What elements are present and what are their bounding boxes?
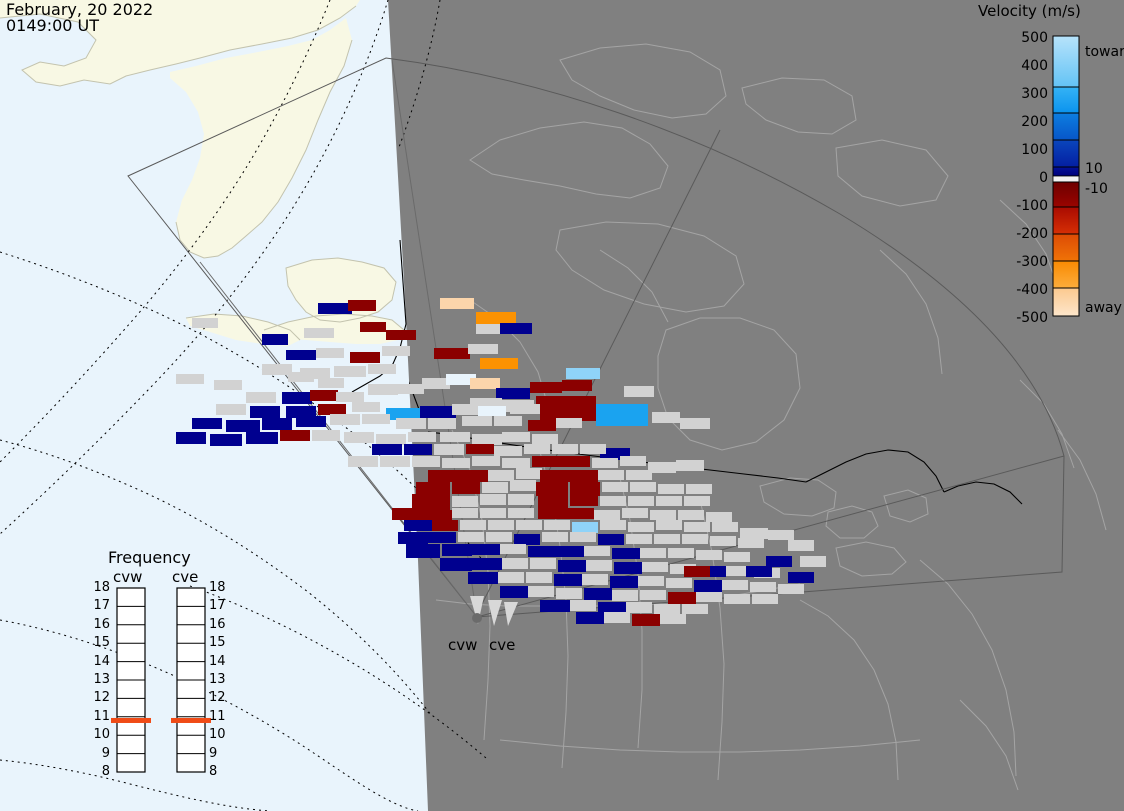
velocity-cell — [380, 456, 410, 467]
velocity-cell — [382, 346, 410, 356]
frequency-panel-title: Frequency — [108, 548, 191, 567]
velocity-cell — [476, 312, 516, 324]
velocity-cell — [468, 572, 498, 584]
velocity-cell — [432, 520, 458, 531]
velocity-cell — [682, 604, 708, 614]
velocity-cell — [566, 508, 594, 519]
velocity-cell — [440, 558, 472, 571]
velocity-cell — [526, 572, 552, 583]
velocity-cell — [494, 416, 522, 426]
velocity-cell — [540, 600, 570, 612]
velocity-cell — [434, 348, 470, 359]
velocity-cell — [536, 482, 568, 496]
velocity-cell — [442, 458, 470, 468]
velocity-cell — [668, 592, 696, 604]
colorbar-zero-band — [1053, 176, 1079, 182]
velocity-cell — [658, 484, 684, 494]
velocity-cell — [626, 602, 652, 613]
velocity-cell — [628, 496, 654, 506]
velocity-cell — [478, 406, 506, 416]
velocity-cell — [778, 584, 804, 594]
velocity-cell — [528, 420, 556, 431]
velocity-colorbar — [1053, 36, 1079, 316]
velocity-cell — [680, 418, 710, 429]
velocity-cell — [472, 558, 502, 570]
velocity-cell — [368, 364, 396, 374]
velocity-cell — [472, 544, 500, 555]
velocity-cell — [532, 434, 558, 444]
velocity-cell — [570, 470, 598, 482]
colorbar-tick: 400 — [1000, 58, 1048, 74]
velocity-cell — [766, 556, 792, 567]
velocity-cell — [740, 528, 768, 539]
velocity-cell — [480, 494, 506, 505]
velocity-cell — [316, 348, 344, 358]
colorbar-mid-low-label: -10 — [1085, 181, 1108, 197]
velocity-cell — [584, 588, 612, 600]
velocity-cell — [648, 462, 676, 473]
velocity-cell — [348, 456, 378, 467]
velocity-cell — [288, 372, 314, 382]
frequency-column-header-cve: cve — [172, 568, 198, 586]
velocity-cell — [638, 576, 664, 586]
colorbar-tick: 200 — [1000, 114, 1048, 130]
velocity-cell — [396, 418, 426, 429]
velocity-cell — [678, 510, 704, 520]
velocity-cell — [562, 456, 590, 467]
velocity-cell — [246, 432, 278, 444]
velocity-cell — [472, 434, 502, 445]
velocity-cell — [612, 590, 638, 601]
velocity-cell — [386, 330, 416, 340]
velocity-cell — [566, 368, 600, 379]
velocity-cell — [556, 418, 582, 428]
velocity-cell — [570, 494, 598, 506]
frequency-axis-label-right: 9 — [209, 746, 231, 761]
velocity-cell — [262, 334, 288, 345]
velocity-cell — [420, 406, 456, 418]
velocity-cell — [442, 544, 472, 556]
velocity-cell — [542, 532, 568, 542]
velocity-cell — [596, 404, 648, 426]
velocity-cell — [538, 508, 566, 519]
velocity-cell — [318, 404, 346, 415]
velocity-cell — [556, 546, 584, 557]
velocity-cell — [516, 520, 542, 530]
velocity-cell — [598, 470, 624, 480]
velocity-cell — [724, 594, 750, 604]
velocity-cell — [628, 522, 654, 532]
velocity-cell — [536, 396, 570, 410]
velocity-cell — [580, 444, 606, 454]
velocity-cell — [656, 520, 682, 530]
velocity-cell — [334, 366, 366, 377]
velocity-cell — [280, 430, 310, 441]
velocity-cell — [640, 548, 666, 558]
velocity-cell — [746, 566, 772, 577]
velocity-cell — [412, 456, 440, 467]
velocity-cell — [694, 580, 722, 592]
velocity-cell — [466, 444, 494, 454]
velocity-cell — [246, 392, 276, 403]
velocity-cell — [226, 420, 260, 432]
colorbar-tick: 100 — [1000, 142, 1048, 158]
velocity-cell — [650, 510, 676, 520]
velocity-cell — [676, 460, 704, 471]
velocity-cell — [424, 510, 452, 521]
velocity-cell — [502, 558, 528, 569]
velocity-cell — [696, 592, 722, 602]
colorbar-toward-label: toward — [1085, 44, 1124, 60]
velocity-cell — [486, 532, 512, 542]
velocity-cell — [570, 532, 596, 542]
velocity-cell — [362, 414, 390, 424]
velocity-cell — [472, 456, 500, 466]
velocity-cell — [528, 586, 554, 597]
frequency-axis-label-right: 16 — [209, 617, 231, 632]
velocity-cell — [428, 470, 458, 482]
velocity-cell — [440, 298, 474, 309]
velocity-cell — [516, 468, 542, 479]
velocity-cell — [514, 534, 540, 545]
velocity-cell — [682, 534, 708, 544]
velocity-cell — [612, 548, 640, 559]
colorbar-tick: -200 — [1000, 226, 1048, 242]
frequency-axis-label-left: 16 — [88, 617, 110, 632]
velocity-cell — [788, 540, 814, 551]
velocity-cell — [570, 600, 596, 611]
frequency-axis-label-left: 10 — [88, 727, 110, 742]
velocity-cell — [626, 534, 652, 544]
velocity-cell — [468, 344, 498, 354]
velocity-cell — [422, 378, 450, 389]
velocity-cell — [652, 412, 680, 423]
velocity-cell — [788, 572, 814, 583]
velocity-cell — [262, 364, 292, 375]
velocity-cell — [214, 380, 242, 390]
velocity-cell — [368, 384, 398, 395]
frequency-axis-label-right: 13 — [209, 672, 231, 687]
velocity-cell — [304, 328, 334, 338]
colorbar-tick: -300 — [1000, 254, 1048, 270]
frequency-axis-label-left: 17 — [88, 598, 110, 613]
colorbar-tick: -100 — [1000, 198, 1048, 214]
frequency-axis-label-right: 15 — [209, 635, 231, 650]
velocity-cell — [602, 482, 628, 492]
velocity-cell — [412, 494, 450, 510]
frequency-axis-label-right: 17 — [209, 598, 231, 613]
velocity-cell — [598, 534, 624, 545]
velocity-cell — [620, 456, 646, 466]
frequency-axis-label-left: 9 — [88, 746, 110, 761]
velocity-cell — [684, 522, 710, 532]
velocity-cell — [752, 594, 778, 604]
velocity-cell — [654, 534, 680, 544]
frequency-axis-label-right: 12 — [209, 690, 231, 705]
velocity-cell — [376, 434, 406, 445]
velocity-cell — [684, 496, 710, 506]
velocity-cell — [538, 494, 568, 508]
velocity-cell — [336, 392, 364, 402]
velocity-cell — [352, 402, 380, 412]
velocity-cell — [800, 556, 826, 567]
frequency-axis-label-right: 8 — [209, 764, 231, 779]
velocity-cell — [470, 378, 500, 389]
velocity-cell — [642, 562, 668, 572]
frequency-axis-label-left: 12 — [88, 690, 110, 705]
velocity-cell — [480, 508, 506, 518]
velocity-cell — [600, 520, 626, 530]
velocity-cell — [768, 530, 794, 540]
velocity-cell — [192, 318, 218, 328]
velocity-cell — [310, 390, 338, 401]
velocity-cell — [480, 358, 518, 369]
velocity-cell — [524, 444, 550, 454]
frequency-column-header-cvw: cvw — [113, 568, 142, 586]
velocity-cell — [330, 414, 360, 425]
velocity-cell — [210, 434, 242, 446]
velocity-cell — [460, 520, 486, 530]
velocity-cell — [452, 496, 478, 507]
velocity-cell — [498, 572, 524, 583]
velocity-cell — [558, 560, 586, 572]
velocity-cell — [500, 323, 532, 334]
frequency-axis-label-left: 8 — [88, 764, 110, 779]
velocity-cell — [496, 388, 530, 399]
velocity-cell — [750, 582, 776, 592]
velocity-cell — [572, 522, 598, 533]
velocity-cell — [488, 520, 514, 530]
velocity-cell — [610, 576, 638, 588]
colorbar-tick: 500 — [1000, 30, 1048, 46]
frequency-axis-label-left: 11 — [88, 709, 110, 724]
velocity-cell — [192, 418, 222, 429]
velocity-cell — [556, 588, 582, 599]
velocity-cell — [296, 416, 326, 427]
colorbar-tick: 300 — [1000, 86, 1048, 102]
velocity-cell — [712, 522, 738, 532]
velocity-cell — [398, 532, 428, 544]
map-layer — [0, 0, 1124, 811]
velocity-cell — [488, 470, 514, 481]
velocity-cell — [738, 538, 764, 548]
velocity-cell — [552, 444, 578, 454]
velocity-cell — [176, 432, 206, 444]
frequency-axis-label-left: 18 — [88, 580, 110, 595]
frequency-axis-label-left: 13 — [88, 672, 110, 687]
velocity-cell — [530, 382, 562, 393]
velocity-cell — [176, 374, 204, 384]
velocity-cell — [554, 574, 582, 586]
time-label: 0149:00 UT — [6, 16, 99, 35]
velocity-cell — [502, 458, 530, 468]
velocity-cell — [458, 470, 488, 482]
velocity-cell — [216, 404, 246, 415]
velocity-cell — [686, 484, 712, 494]
velocity-cell — [570, 482, 600, 496]
velocity-cell — [624, 386, 654, 397]
velocity-cell — [600, 496, 626, 506]
velocity-cell — [656, 496, 682, 506]
velocity-cell — [510, 480, 536, 491]
frequency-axis-label-right: 11 — [209, 709, 231, 724]
velocity-cell — [710, 536, 736, 546]
velocity-cell — [462, 416, 492, 426]
velocity-cell — [428, 532, 456, 543]
velocity-cell — [640, 590, 666, 600]
velocity-cell — [396, 384, 424, 394]
velocity-cell — [360, 322, 386, 332]
velocity-cell — [660, 614, 686, 624]
velocity-cell — [250, 406, 280, 418]
velocity-cell — [604, 612, 630, 623]
velocity-cell — [668, 548, 694, 558]
velocity-cell — [348, 300, 376, 311]
velocity-cell — [416, 482, 450, 496]
velocity-cell — [724, 552, 750, 562]
velocity-cell — [494, 446, 522, 456]
frequency-axis-label-right: 14 — [209, 654, 231, 669]
velocity-cell — [452, 482, 480, 494]
velocity-cell — [530, 558, 556, 569]
velocity-cell — [440, 432, 470, 442]
velocity-cell — [482, 482, 508, 493]
velocity-cell — [406, 544, 440, 558]
velocity-cell — [312, 430, 340, 441]
frequency-axis-label-left: 14 — [88, 654, 110, 669]
velocity-cell — [372, 444, 402, 455]
velocity-cell — [666, 578, 692, 588]
velocity-cell — [500, 544, 526, 554]
velocity-cell — [510, 404, 540, 414]
velocity-cell — [404, 444, 432, 455]
radar-site-label-cvw: cvw — [448, 636, 477, 654]
velocity-cell — [286, 350, 316, 360]
velocity-cell — [404, 520, 432, 531]
velocity-cell — [318, 303, 352, 314]
velocity-cell — [540, 470, 570, 482]
colorbar-title: Velocity (m/s) — [978, 2, 1081, 20]
radar-site-label-cve: cve — [489, 636, 515, 654]
colorbar-tick: -500 — [1000, 310, 1048, 326]
velocity-cell — [614, 562, 642, 574]
velocity-cell — [318, 378, 344, 388]
colorbar-tick: -400 — [1000, 282, 1048, 298]
colorbar-away-label: away — [1085, 300, 1122, 316]
velocity-cell — [706, 512, 732, 522]
velocity-cell — [562, 380, 592, 391]
frequency-axis-label-left: 15 — [88, 635, 110, 650]
velocity-cell — [626, 470, 652, 480]
velocity-cell — [630, 482, 656, 492]
velocity-cell — [622, 508, 648, 518]
velocity-cell — [392, 508, 424, 520]
velocity-cell — [586, 560, 612, 571]
timestamp-block: February, 20 20220149:00 UT — [6, 2, 153, 34]
velocity-cell — [722, 580, 748, 590]
velocity-cell — [544, 520, 570, 530]
velocity-cell — [344, 432, 374, 443]
velocity-cell — [576, 612, 604, 624]
velocity-cell — [408, 432, 436, 442]
superdarn-fan-plot: February, 20 20220149:00 UT Velocity (m/… — [0, 0, 1124, 811]
velocity-cell — [582, 574, 608, 585]
frequency-axis-label-right: 10 — [209, 727, 231, 742]
velocity-cell — [502, 432, 530, 442]
velocity-cell — [428, 418, 456, 429]
velocity-cell — [696, 550, 722, 560]
frequency-axis-label-right: 18 — [209, 580, 231, 595]
velocity-cell — [508, 494, 534, 505]
velocity-cell — [584, 546, 610, 556]
velocity-cell — [528, 546, 556, 557]
velocity-cell — [594, 510, 620, 520]
frequency-marker — [171, 718, 211, 723]
velocity-cell — [282, 392, 312, 404]
colorbar-mid-high-label: 10 — [1085, 161, 1103, 177]
velocity-cell — [508, 508, 534, 518]
velocity-cell — [632, 614, 660, 626]
velocity-cell — [350, 352, 380, 363]
velocity-cell — [452, 508, 478, 518]
velocity-cell — [566, 396, 596, 410]
velocity-cell — [434, 444, 464, 455]
velocity-cell — [262, 418, 292, 430]
velocity-cell — [532, 456, 562, 467]
frequency-marker — [111, 718, 151, 723]
velocity-cell — [592, 458, 618, 468]
velocity-cell — [654, 604, 680, 614]
colorbar-tick: 0 — [1000, 170, 1048, 186]
velocity-cell — [500, 586, 528, 598]
velocity-cell — [458, 532, 484, 542]
velocity-cell — [684, 566, 710, 577]
